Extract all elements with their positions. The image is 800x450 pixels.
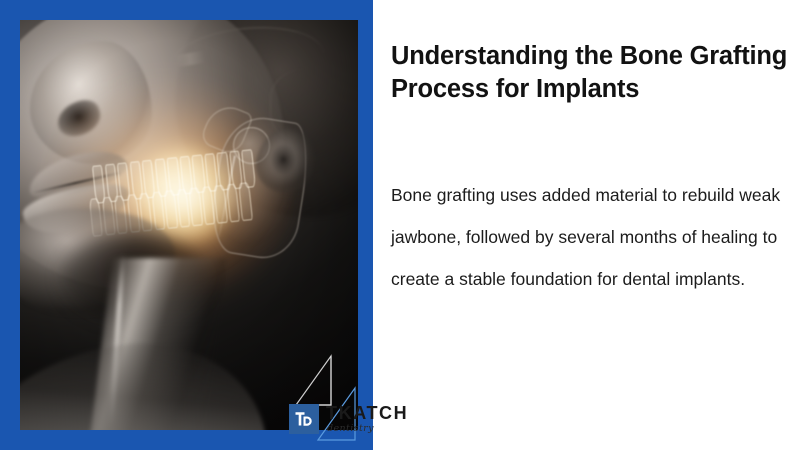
page-title: Understanding the Bone Grafting Process …: [391, 40, 795, 106]
image-vignette: [20, 20, 358, 430]
medical-illustration: [20, 20, 358, 430]
content-area: Understanding the Bone Grafting Process …: [391, 0, 800, 450]
hero-image: [20, 20, 358, 430]
logo-tagline: dentistry: [327, 424, 408, 434]
logo-monogram-icon: [289, 404, 319, 434]
body-paragraph: Bone grafting uses added material to reb…: [391, 174, 789, 300]
brand-logo[interactable]: TKATCH dentistry: [289, 404, 408, 434]
td-monogram-icon: [291, 406, 317, 432]
logo-wordmark: TKATCH dentistry: [326, 404, 408, 434]
logo-name: TKATCH: [326, 404, 408, 422]
left-blue-panel: [0, 0, 373, 450]
